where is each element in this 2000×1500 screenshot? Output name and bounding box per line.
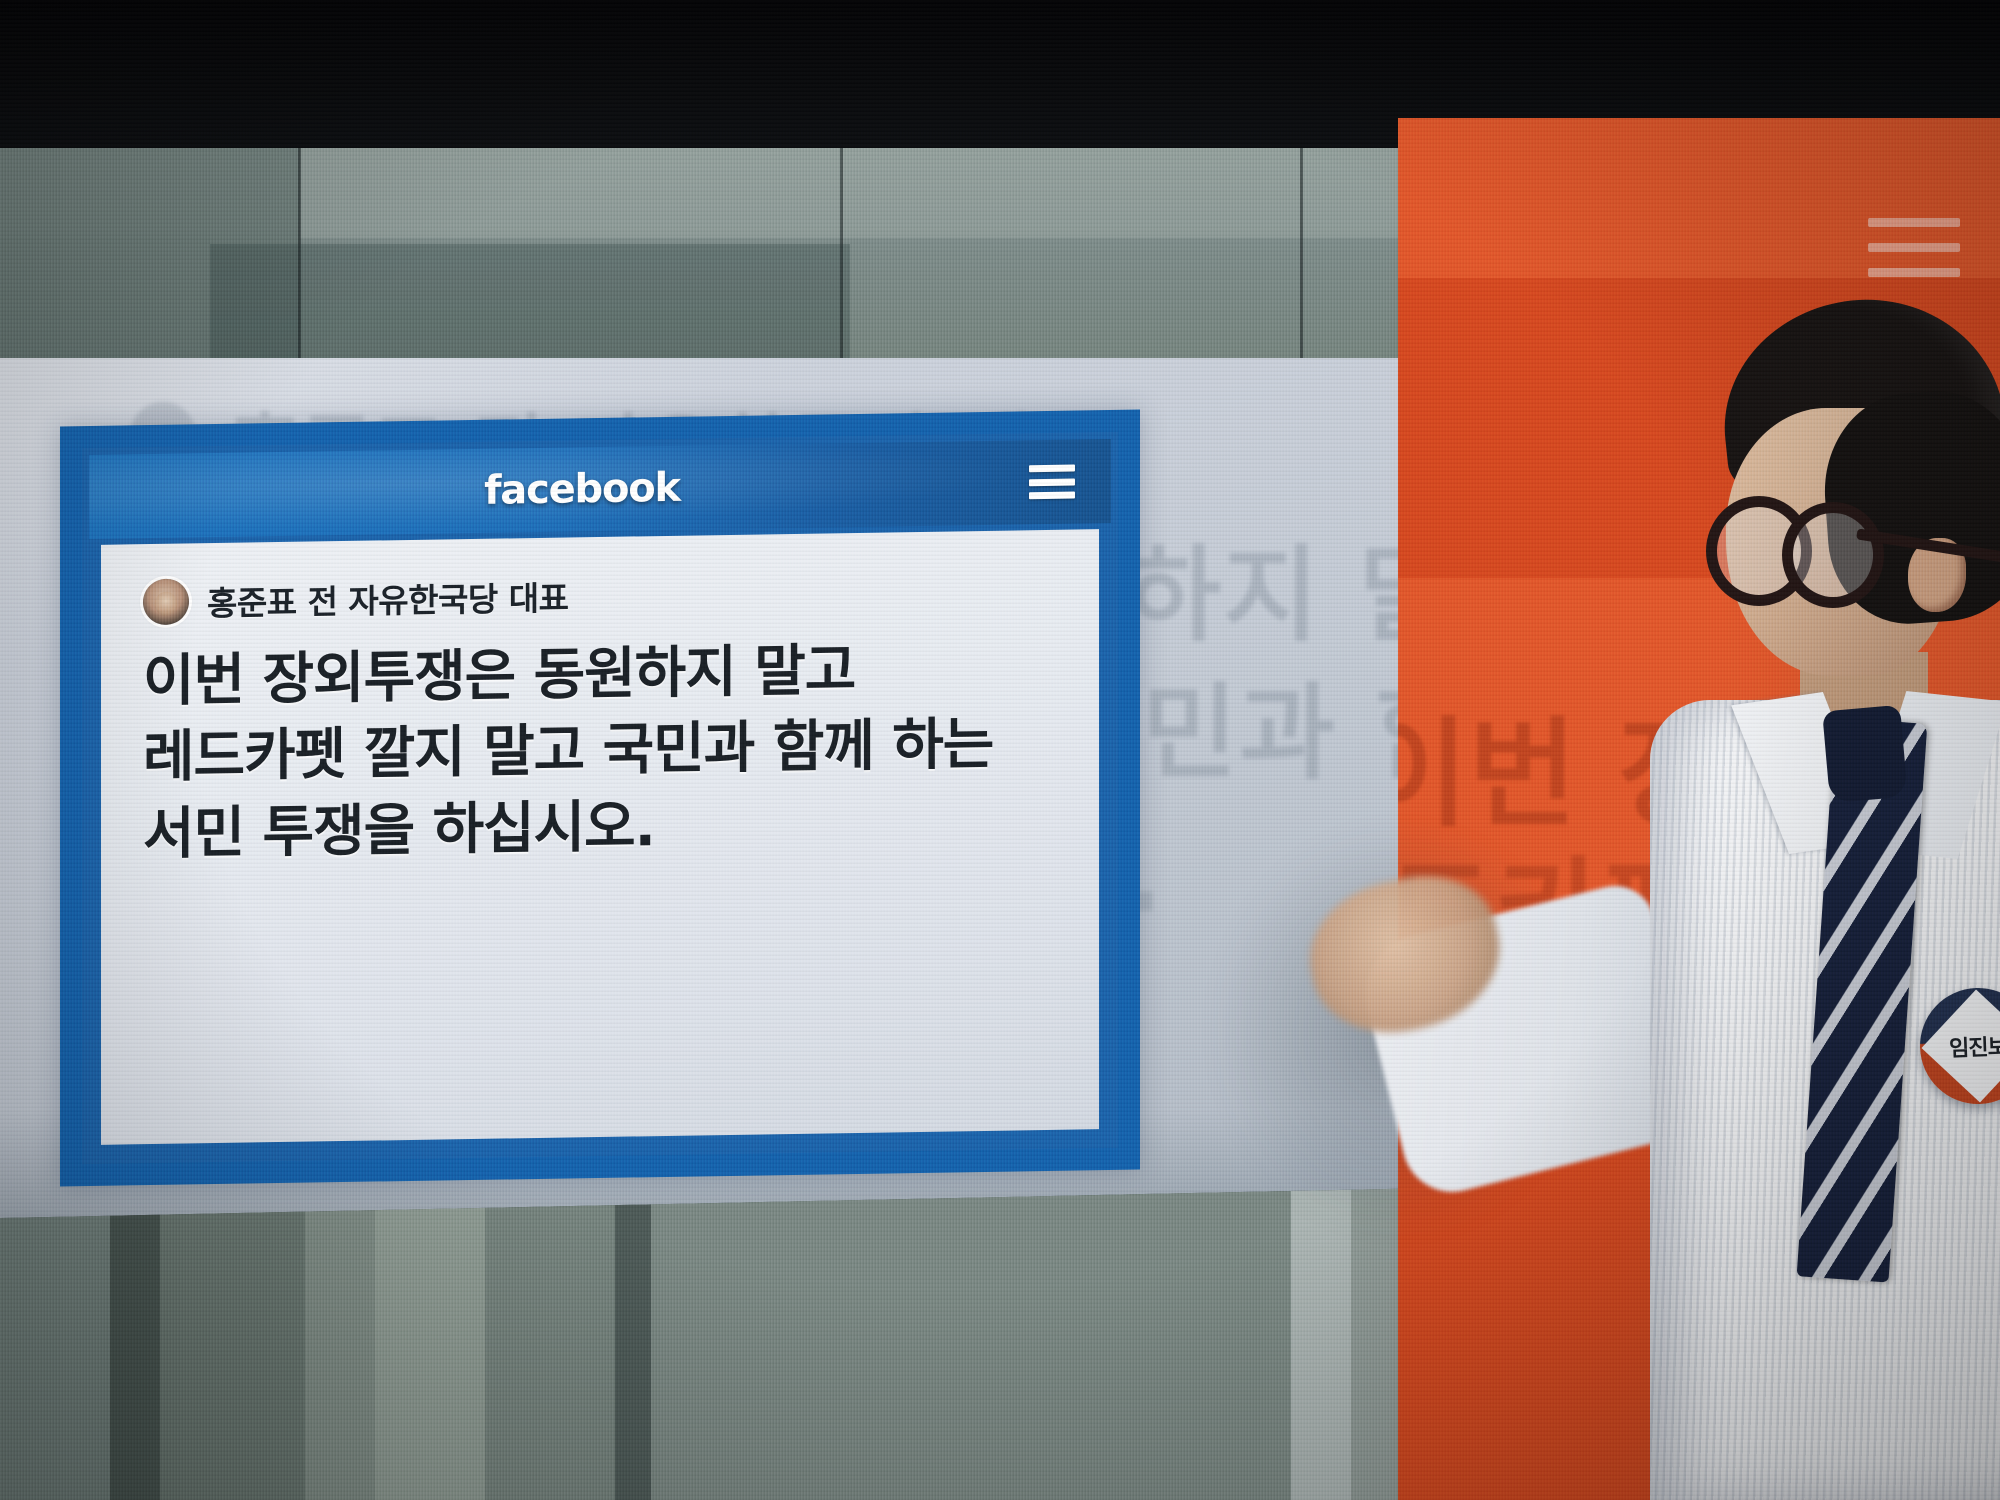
facebook-post-card[interactable]: facebook 홍준표 전 자유한국당 대표 이번 장외투쟁은 동원하지 말고… — [60, 410, 1140, 1187]
badge-text: 임진보 — [1949, 1029, 2000, 1063]
facebook-logo: facebook — [484, 465, 680, 514]
facebook-post-body: 홍준표 전 자유한국당 대표 이번 장외투쟁은 동원하지 말고 레드카펫 깔지 … — [101, 529, 1099, 1145]
wall-marking-icon — [1868, 218, 1960, 277]
wall-panel — [485, 1205, 615, 1500]
post-author-name: 홍준표 전 자유한국당 대표 — [207, 571, 568, 625]
marking-bar — [1868, 218, 1960, 227]
necktie-knot — [1822, 705, 1908, 803]
wall-panel — [110, 1215, 160, 1500]
wall-seam — [840, 148, 843, 360]
wall-panel — [0, 1216, 110, 1500]
wall-panel — [375, 1208, 485, 1500]
glasses-lens-right — [1782, 502, 1884, 608]
wall-seam — [1300, 148, 1303, 360]
marking-bar — [1868, 243, 1960, 252]
post-line-1: 이번 장외투쟁은 동원하지 말고 — [143, 633, 1099, 716]
presenter: 임진보 — [1630, 300, 2000, 1500]
post-line-2: 레드카펫 깔지 말고 국민과 함께 하는 — [143, 709, 1099, 792]
avatar — [143, 578, 189, 625]
marking-bar — [1868, 268, 1960, 277]
hamburger-bar — [1029, 465, 1075, 473]
wall-shadow-patch — [210, 244, 850, 360]
facebook-card-frame: facebook 홍준표 전 자유한국당 대표 이번 장외투쟁은 동원하지 말고… — [82, 432, 1118, 1164]
wall-panel — [305, 1210, 375, 1500]
glasses-icon — [1706, 496, 1936, 588]
facebook-header: facebook — [89, 439, 1111, 539]
post-author-row: 홍준표 전 자유한국당 대표 — [101, 529, 1099, 627]
wall-panel — [160, 1212, 305, 1500]
hamburger-bar — [1029, 492, 1075, 500]
hamburger-bar — [1029, 478, 1075, 486]
hamburger-menu-icon[interactable] — [1029, 465, 1075, 500]
post-line-3: 서민 투쟁을 하십시오. — [143, 786, 1099, 869]
upper-wall-panels — [0, 148, 1430, 360]
wall-panel — [615, 1204, 651, 1500]
wall-seam — [298, 148, 301, 360]
post-text: 이번 장외투쟁은 동원하지 말고 레드카펫 깔지 말고 국민과 함께 하는 서민… — [101, 611, 1099, 870]
wall-panel — [651, 1191, 1291, 1500]
screenshot-stage: 홍준표 전 자유한국당 대표 이번 장외투쟁은 동원하지 말고 레드카펫 깔지 … — [0, 0, 2000, 1500]
